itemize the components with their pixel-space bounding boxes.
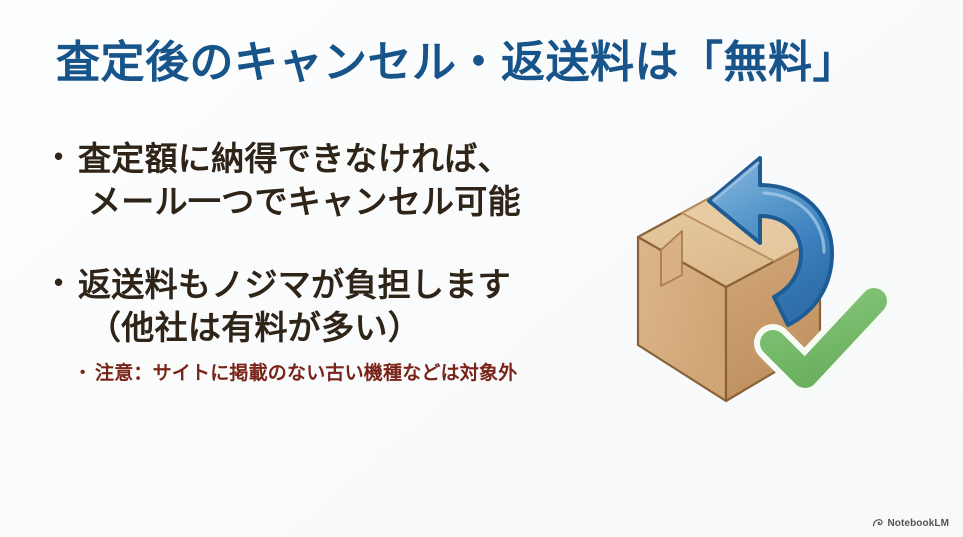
- bullet-item-1: • 査定額に納得できなければ、 メール一つでキャンセル可能: [54, 138, 614, 224]
- bullet-1-line-2: メール一つでキャンセル可能: [78, 181, 614, 224]
- bullet-2-line-1: 返送料もノジマが負担します: [78, 264, 614, 307]
- bullet-2-line-2: （他社は有料が多い）: [78, 307, 614, 350]
- notebooklm-watermark: NotebookLM: [872, 518, 949, 529]
- note-text: 注意：サイトに掲載のない古い機種などは対象外: [95, 362, 517, 386]
- bullet-item-2: • 返送料もノジマが負担します （他社は有料が多い）: [54, 264, 614, 350]
- note-bullet-marker-icon: •: [80, 362, 95, 383]
- bullet-1-line-1: 査定額に納得できなければ、: [78, 138, 614, 181]
- notebooklm-logo-icon: [872, 518, 883, 529]
- return-package-illustration: [608, 133, 908, 418]
- bullet-marker-icon: •: [54, 138, 78, 175]
- bullet-1-lines: 査定額に納得できなければ、 メール一つでキャンセル可能: [78, 138, 614, 224]
- notebooklm-spiral-glyph: [872, 518, 883, 529]
- notebooklm-label: NotebookLM: [887, 518, 949, 529]
- bullet-2-lines: 返送料もノジマが負担します （他社は有料が多い）: [78, 264, 614, 350]
- bullet-marker-icon: •: [54, 264, 78, 301]
- note-line: • 注意：サイトに掲載のない古い機種などは対象外: [80, 362, 614, 386]
- page-title: 査定後のキャンセル・返送料は「無料」: [56, 38, 857, 87]
- slide-canvas: 査定後のキャンセル・返送料は「無料」 • 査定額に納得できなければ、 メール一つ…: [0, 0, 963, 537]
- body-content: • 査定額に納得できなければ、 メール一つでキャンセル可能 • 返送料もノジマが…: [54, 138, 614, 385]
